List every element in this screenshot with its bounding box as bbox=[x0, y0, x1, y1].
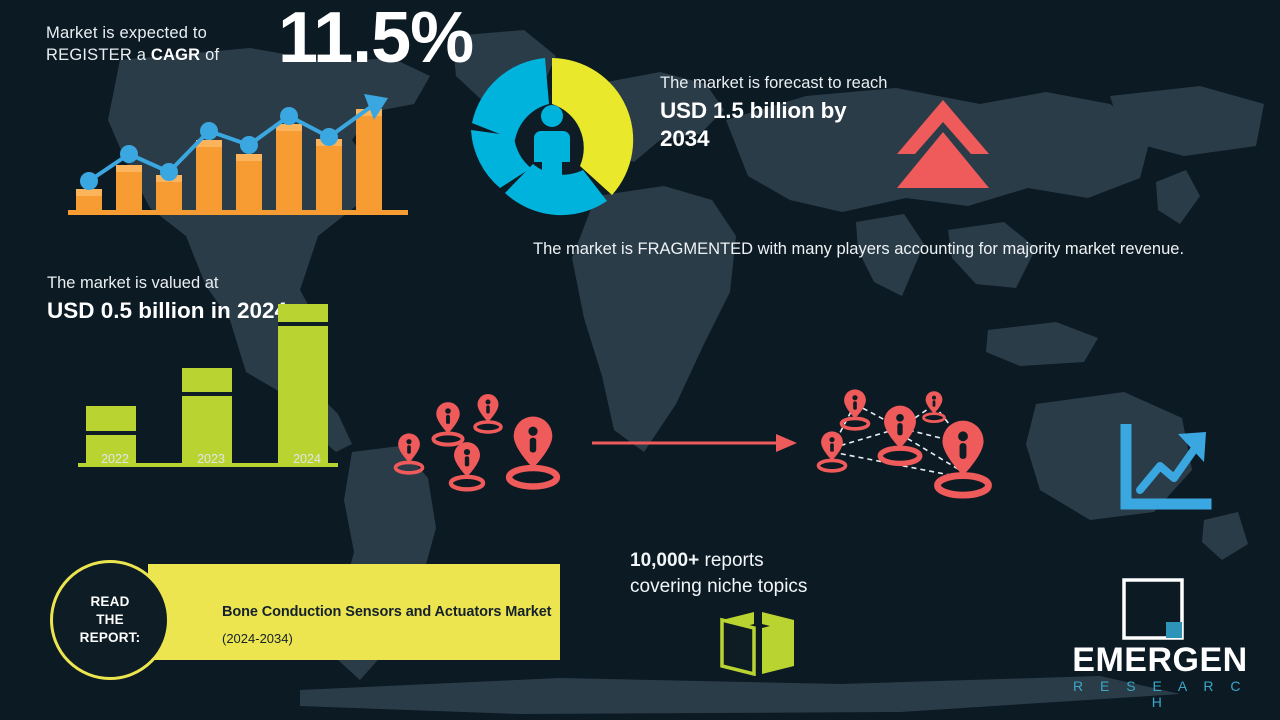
reports-text: 10,000+ reports covering niche topics bbox=[630, 548, 930, 600]
pin-3 bbox=[475, 394, 501, 432]
valuation-label: The market is valued at bbox=[47, 272, 297, 294]
cagr-value: 11.5% bbox=[278, 2, 473, 74]
fragmentation-note: The market is FRAGMENTED with many playe… bbox=[533, 237, 1233, 261]
cagr-label: Market is expected to REGISTER a CAGR of bbox=[46, 22, 276, 66]
infographic-canvas: Market is expected to REGISTER a CAGR of… bbox=[0, 0, 1280, 720]
forecast-label: The market is forecast to reach bbox=[660, 72, 890, 94]
cta-circle-label: READ THE REPORT: bbox=[80, 593, 141, 647]
forecast-block: The market is forecast to reach USD 1.5 … bbox=[660, 72, 890, 153]
pin-4 bbox=[451, 442, 483, 489]
pin-3 bbox=[818, 431, 845, 471]
cagr-label-bold: CAGR bbox=[151, 46, 200, 64]
cta-circle-badge[interactable]: READ THE REPORT: bbox=[50, 560, 170, 680]
cta-circle-line3: REPORT: bbox=[80, 630, 141, 645]
year-label-2022: 2022 bbox=[85, 452, 145, 466]
right-arrow-icon bbox=[592, 428, 797, 458]
market-value-bar-chart bbox=[78, 292, 338, 472]
logo-subtitle: R E S E A R C H bbox=[1060, 678, 1260, 710]
reports-line1-rest: reports bbox=[699, 550, 763, 571]
pin-2 bbox=[433, 402, 462, 445]
cagr-label-line2-post: of bbox=[200, 46, 219, 64]
consolidated-players-network bbox=[805, 382, 1010, 502]
logo-name: EMERGEN bbox=[1060, 640, 1260, 680]
growth-baseline bbox=[68, 210, 408, 215]
line-chart-up-icon bbox=[1118, 424, 1212, 514]
forecast-value: USD 1.5 billion by 2034 bbox=[660, 97, 890, 153]
open-book-icon bbox=[718, 608, 798, 676]
market-growth-bar-chart bbox=[68, 92, 408, 218]
double-chevron-up-icon bbox=[893, 96, 993, 192]
fragmented-players-cluster bbox=[385, 388, 580, 498]
read-the-report-cta[interactable]: READ THE REPORT: Bone Conduction Sensors… bbox=[50, 560, 560, 666]
cta-circle-line1: READ bbox=[90, 594, 129, 609]
year-label-2023: 2023 bbox=[181, 452, 241, 466]
market-share-donut-chart bbox=[464, 52, 640, 228]
pin-5 bbox=[509, 417, 557, 487]
value-bars bbox=[86, 304, 328, 464]
emergen-research-logo: EMERGEN R E S E A R C H bbox=[1060, 578, 1260, 698]
cagr-label-line2-pre: REGISTER a bbox=[46, 46, 151, 64]
cta-circle-line2: THE bbox=[96, 612, 124, 627]
square-chart-mark-icon bbox=[1122, 578, 1184, 640]
reports-count-block: 10,000+ reports covering niche topics bbox=[630, 548, 930, 600]
pin-2 bbox=[924, 391, 945, 421]
pin-5 bbox=[938, 421, 989, 495]
report-period: (2024-2034) bbox=[222, 631, 293, 646]
reports-count: 10,000+ bbox=[630, 550, 699, 571]
cagr-label-line1: Market is expected to bbox=[46, 24, 207, 42]
pin-1 bbox=[395, 433, 422, 473]
reports-line2: covering niche topics bbox=[630, 576, 807, 597]
pin-4 bbox=[880, 406, 920, 464]
report-title: Bone Conduction Sensors and Actuators Ma… bbox=[222, 604, 551, 620]
year-label-2024: 2024 bbox=[277, 452, 337, 466]
